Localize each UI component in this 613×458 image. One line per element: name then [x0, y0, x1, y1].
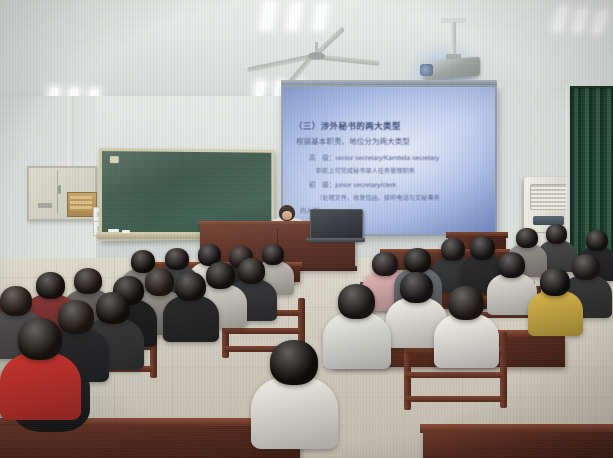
podium-laptop[interactable]: [310, 209, 363, 241]
chalk-piece: [108, 229, 119, 232]
student-torso: [0, 352, 81, 420]
air-conditioner-vent-grille: [530, 184, 569, 210]
student-head: [175, 272, 206, 301]
student-head: [441, 238, 465, 261]
wooden-box-slats: [70, 196, 92, 211]
wall-conduit: [68, 96, 74, 174]
student-desk: [423, 432, 613, 458]
student-head: [262, 244, 284, 265]
student-head: [572, 254, 600, 280]
student-head: [270, 340, 318, 385]
student-head: [338, 284, 375, 319]
student-head: [470, 236, 495, 260]
student-head: [165, 248, 189, 270]
student-head: [498, 252, 525, 278]
student-head: [516, 228, 538, 248]
student-head: [404, 248, 431, 273]
chalk-piece: [122, 230, 130, 233]
projector-lens-icon: [420, 64, 433, 76]
student-torso: [528, 290, 583, 336]
student-head: [540, 268, 570, 296]
student-head: [58, 300, 94, 334]
student-torso: [323, 312, 391, 369]
student-torso: [163, 295, 219, 342]
student-head: [372, 252, 398, 276]
student-head: [400, 272, 433, 303]
student-head: [18, 318, 62, 360]
student-head: [546, 224, 567, 244]
student-head: [145, 268, 174, 296]
lecturer-face: [282, 211, 292, 220]
cabinet-label: [38, 203, 52, 208]
student-torso: [251, 376, 338, 449]
student-head: [586, 230, 608, 251]
classroom-scene: （三）涉外秘书的两大类型 根据基本职责、地位分为两大类型 高 级：senior …: [0, 0, 613, 458]
cabinet-latch-icon[interactable]: [58, 185, 61, 194]
student-torso: [434, 313, 499, 368]
student-head: [448, 286, 484, 320]
student-head: [0, 286, 32, 316]
student-head: [74, 268, 102, 294]
student-head: [238, 258, 265, 284]
chalkboard-clip-icon: [110, 156, 119, 163]
laptop-base: [306, 238, 365, 242]
student-head: [206, 262, 235, 289]
student-head: [36, 272, 65, 299]
student-head: [96, 292, 130, 324]
